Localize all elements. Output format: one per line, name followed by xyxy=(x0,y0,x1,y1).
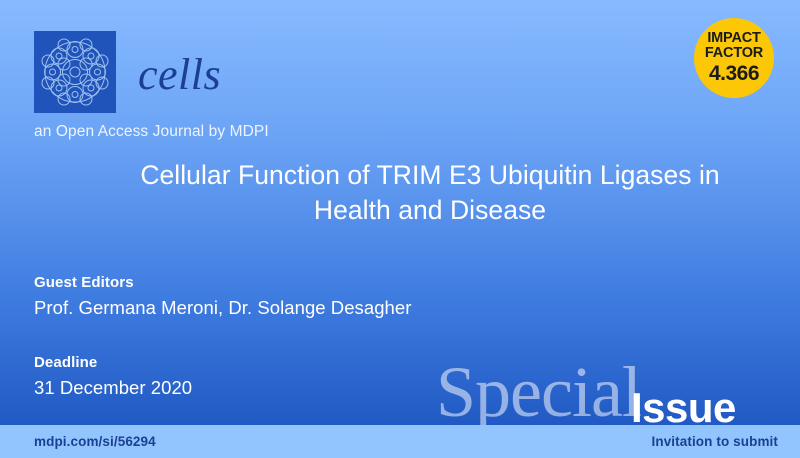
special-issue-url[interactable]: mdpi.com/si/56294 xyxy=(34,434,156,449)
footer-bar: mdpi.com/si/56294 Invitation to submit xyxy=(0,425,800,458)
deadline-block: Deadline 31 December 2020 xyxy=(34,354,192,399)
deadline-label: Deadline xyxy=(34,354,192,371)
guest-editors-value: Prof. Germana Meroni, Dr. Solange Desagh… xyxy=(34,297,411,319)
impact-factor-line1: IMPACT xyxy=(707,31,760,47)
invitation-to-submit-link[interactable]: Invitation to submit xyxy=(652,434,779,449)
watermark-special: Special xyxy=(436,356,641,428)
special-issue-poster: cells an Open Access Journal by MDPI IMP… xyxy=(0,0,800,458)
guest-editors-block: Guest Editors Prof. Germana Meroni, Dr. … xyxy=(34,274,411,319)
impact-factor-value: 4.366 xyxy=(709,63,759,86)
impact-factor-badge: IMPACT FACTOR 4.366 xyxy=(694,18,774,98)
impact-factor-line2: FACTOR xyxy=(705,46,763,62)
journal-tagline: an Open Access Journal by MDPI xyxy=(34,123,269,141)
watermark-issue: Issue xyxy=(631,387,736,429)
cell-cluster-logo-icon xyxy=(34,31,116,113)
journal-wordmark: cells xyxy=(138,53,221,97)
special-issue-title: Cellular Function of TRIM E3 Ubiquitin L… xyxy=(100,158,760,228)
deadline-value: 31 December 2020 xyxy=(34,377,192,399)
guest-editors-label: Guest Editors xyxy=(34,274,411,291)
journal-brand: cells xyxy=(34,31,221,113)
